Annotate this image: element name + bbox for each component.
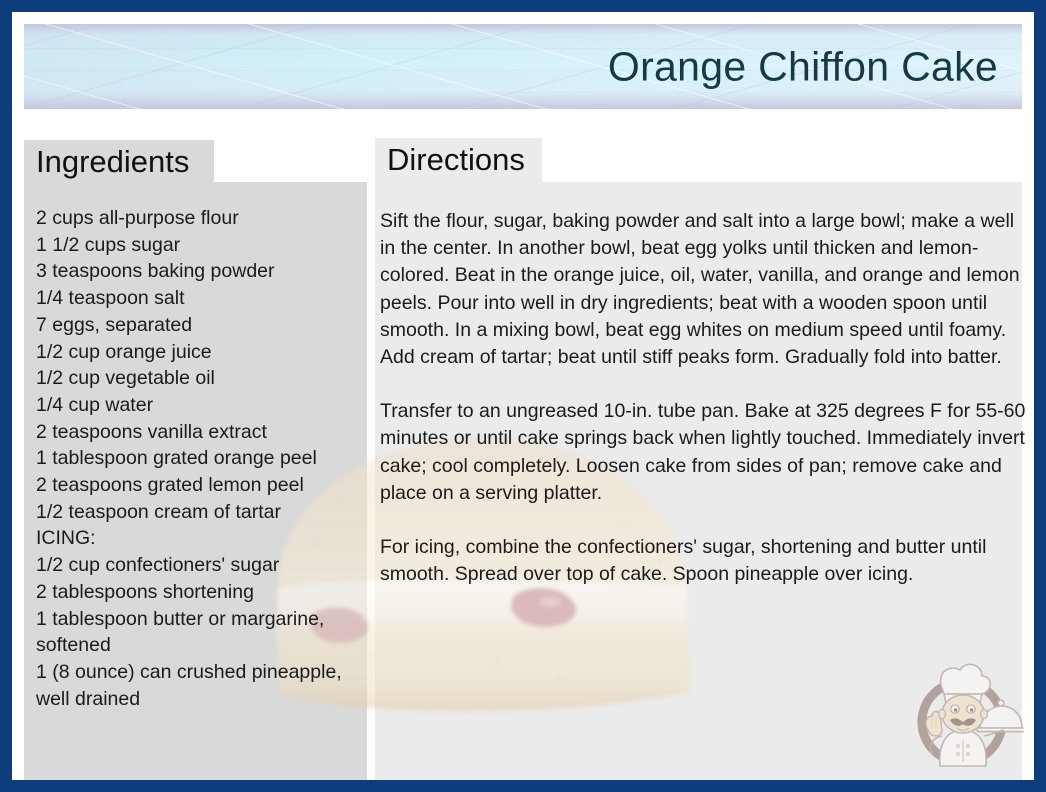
directions-paragraph: Transfer to an ungreased 10-in. tube pan… xyxy=(380,398,1030,507)
directions-text: Sift the flour, sugar, baking powder and… xyxy=(380,208,1030,588)
list-item: 1/2 cup vegetable oil xyxy=(36,365,356,392)
list-item: 1/2 teaspoon cream of tartar xyxy=(36,499,356,526)
chef-logo-icon xyxy=(906,654,1024,772)
title-banner: Orange Chiffon Cake xyxy=(24,24,1022,109)
list-item: 1 tablespoon grated orange peel xyxy=(36,445,356,472)
directions-paragraph: For icing, combine the confectioners' su… xyxy=(380,534,1030,588)
list-item: 2 teaspoons grated lemon peel xyxy=(36,472,356,499)
list-item-icing-label: ICING: xyxy=(36,525,356,552)
list-item: 1/2 cup orange juice xyxy=(36,339,356,366)
list-item: 1 1/2 cups sugar xyxy=(36,232,356,259)
recipe-card-body: Orange Chiffon Cake xyxy=(12,12,1034,780)
list-item: 2 teaspoons vanilla extract xyxy=(36,419,356,446)
list-item: 3 teaspoons baking powder xyxy=(36,258,356,285)
recipe-card-frame: Orange Chiffon Cake xyxy=(0,0,1046,792)
list-item: 1 tablespoon butter or margarine, soften… xyxy=(36,606,356,659)
list-item: 1/4 cup water xyxy=(36,392,356,419)
list-item: 1 (8 ounce) can crushed pineapple, well … xyxy=(36,659,356,712)
page-title: Orange Chiffon Cake xyxy=(608,43,998,90)
list-item: 2 cups all-purpose flour xyxy=(36,205,356,232)
directions-paragraph: Sift the flour, sugar, baking powder and… xyxy=(380,208,1030,371)
list-item: 2 tablespoons shortening xyxy=(36,579,356,606)
list-item: 1/4 teaspoon salt xyxy=(36,285,356,312)
ingredients-list: 2 cups all-purpose flour 1 1/2 cups suga… xyxy=(36,205,356,712)
list-item: 7 eggs, separated xyxy=(36,312,356,339)
list-item: 1/2 cup confectioners' sugar xyxy=(36,552,356,579)
section-heading-ingredients: Ingredients xyxy=(24,140,214,184)
section-heading-directions: Directions xyxy=(375,138,542,182)
